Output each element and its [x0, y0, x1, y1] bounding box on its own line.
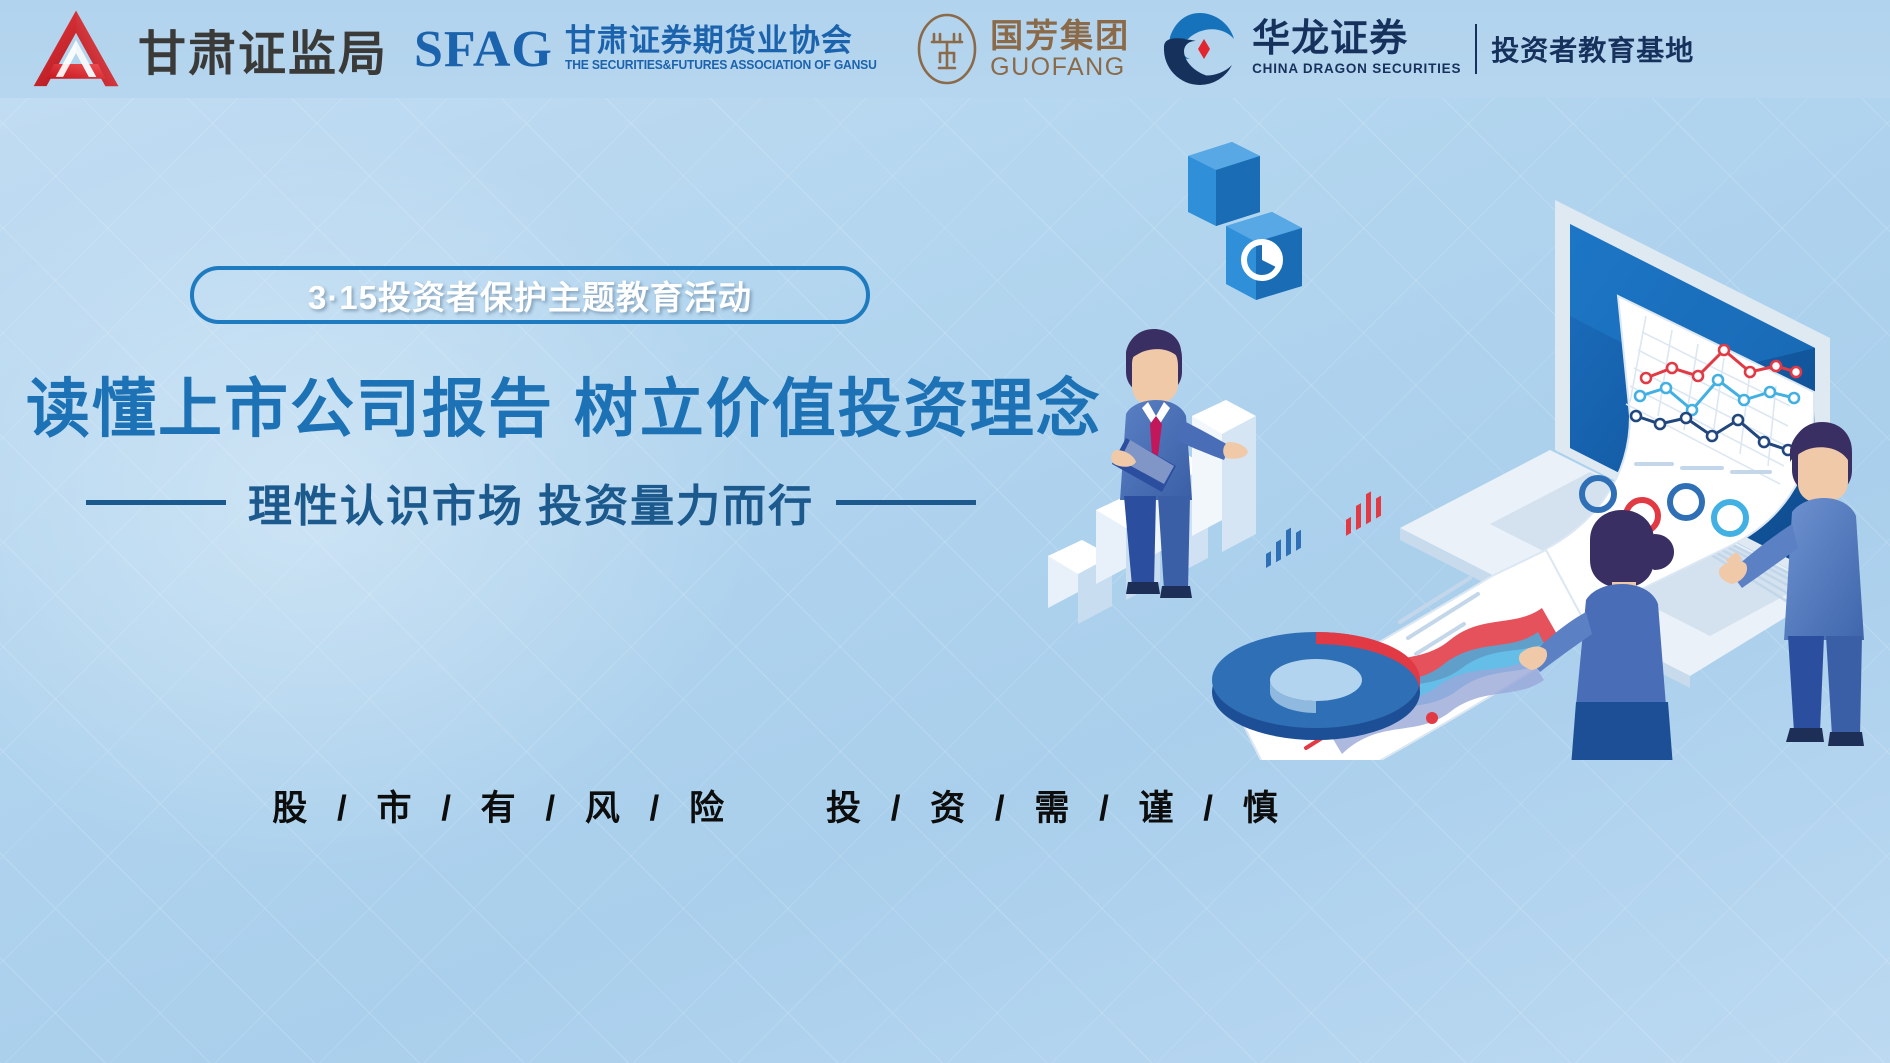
logo-sfag-label-en: THE SECURITIES&FUTURES ASSOCIATION OF GA… [565, 58, 877, 73]
risk-slogan: 股 / 市 / 有 / 风 / 险 投 / 资 / 需 / 谨 / 慎 [0, 780, 1560, 831]
poster-canvas: 甘肃证监局 SFAG 甘肃证券期货业协会 THE SECURITIES&FUTU… [0, 0, 1890, 1063]
subtitle-rule-right [836, 500, 976, 505]
page-title: 读懂上市公司报告 树立价值投资理念 [26, 358, 1036, 450]
page-subtitle: 理性认识市场 投资量力而行 [248, 470, 814, 534]
logo-china-dragon-label-en: CHINA DRAGON SECURITIES [1252, 60, 1461, 78]
logo-divider [1475, 24, 1477, 74]
logo-gansu-csrc: 甘肃证监局 [30, 7, 388, 91]
subtitle-rule-left [86, 500, 226, 505]
logo-guofang-label-cn: 国芳集团 [990, 18, 1130, 54]
logo-china-dragon: 华龙证券 CHINA DRAGON SECURITIES 投资者教育基地 [1160, 9, 1694, 89]
floating-bar-chart-icon [1188, 120, 1260, 226]
header-logo-bar: 甘肃证监局 SFAG 甘肃证券期货业协会 THE SECURITIES&FUTU… [0, 0, 1890, 98]
logo-investor-education-base-label: 投资者教育基地 [1491, 29, 1694, 69]
floating-pie-chart-icon [1226, 212, 1302, 300]
logo-gansu-csrc-label: 甘肃证监局 [138, 14, 388, 84]
risk-slogan-right: 投 / 资 / 需 / 谨 / 慎 [826, 780, 1288, 831]
oval-deer-emblem-icon [916, 12, 978, 86]
subtitle-row: 理性认识市场 投资量力而行 [26, 470, 1036, 534]
logo-guofang: 国芳集团 GUOFANG [916, 12, 1130, 86]
logo-sfag-label-cn: 甘肃证券期货业协会 [565, 25, 886, 58]
risk-slogan-left: 股 / 市 / 有 / 风 / 险 [272, 780, 734, 831]
logo-sfag-abbr: SFAG [414, 20, 553, 79]
campaign-badge: 3·15投资者保护主题教育活动 [190, 266, 870, 324]
donut-chart-3d [1212, 628, 1420, 740]
logo-china-dragon-label-cn: 华龙证券 [1252, 20, 1461, 60]
red-triangle-knot-icon [30, 7, 122, 91]
logo-sfag: SFAG 甘肃证券期货业协会 THE SECURITIES&FUTURES AS… [414, 20, 886, 79]
campaign-badge-label: 3·15投资者保护主题教育活动 [308, 271, 752, 319]
wave-circle-diamond-icon [1160, 9, 1240, 89]
logo-guofang-label-en: GUOFANG [990, 54, 1130, 80]
